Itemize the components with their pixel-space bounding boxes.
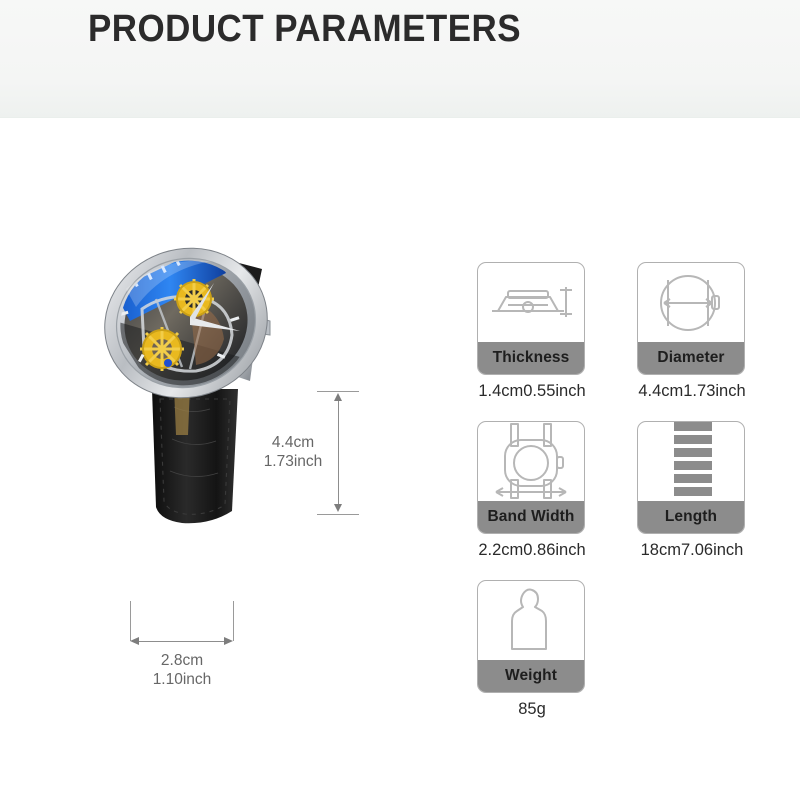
dimension-line xyxy=(338,395,339,510)
dimension-extension-left xyxy=(130,601,131,641)
weight-block-icon xyxy=(478,581,584,661)
spec-card-weight: Weight 85g xyxy=(477,580,587,719)
spec-value-band-width: 2.2cm0.86inch xyxy=(473,541,591,560)
arrow-right-icon xyxy=(224,637,233,645)
spec-label-band-width: Band Width xyxy=(478,501,584,533)
page-title: PRODUCT PARAMETERS xyxy=(88,8,521,51)
dimension-width-metric: 2.8cm xyxy=(106,651,258,670)
spec-card-thickness: Thickness 1.4cm0.55inch xyxy=(477,262,587,401)
main-content: 4.4cm 1.73inch 2.8cm 1.10inch xyxy=(0,119,800,800)
spec-card-grid: Thickness 1.4cm0.55inch xyxy=(477,262,747,782)
dimension-height-metric: 4.4cm xyxy=(249,433,337,452)
spec-card-diameter: Diameter 4.4cm1.73inch xyxy=(637,262,747,401)
watch-side-profile-icon xyxy=(478,263,584,343)
dimension-line xyxy=(134,641,230,642)
spec-card-frame: Weight xyxy=(477,580,585,693)
watch-band-lugs-icon xyxy=(478,422,584,502)
dimension-height-imperial: 1.73inch xyxy=(249,452,337,471)
spec-label-thickness: Thickness xyxy=(478,342,584,374)
spec-value-weight: 85g xyxy=(473,700,591,719)
dimension-width-imperial: 1.10inch xyxy=(106,670,258,689)
dimension-width-callout: 2.8cm 1.10inch xyxy=(118,601,298,711)
spec-value-length: 18cm7.06inch xyxy=(633,541,751,560)
dimension-width-label: 2.8cm 1.10inch xyxy=(106,651,258,689)
watch-photo-block: 4.4cm 1.73inch 2.8cm 1.10inch xyxy=(70,239,410,699)
spec-card-frame: Length xyxy=(637,421,745,534)
spec-value-thickness: 1.4cm0.55inch xyxy=(473,382,591,401)
spec-card-frame: Diameter xyxy=(637,262,745,375)
dimension-extension-right xyxy=(233,601,234,641)
spec-label-diameter: Diameter xyxy=(638,342,744,374)
spec-value-diameter: 4.4cm1.73inch xyxy=(633,382,751,401)
spec-card-frame: Thickness xyxy=(477,262,585,375)
arrow-down-icon xyxy=(334,504,342,512)
dimension-tick-top xyxy=(317,391,359,392)
strap-segments-icon xyxy=(638,422,744,502)
spec-card-band-width: Band Width 2.2cm0.86inch xyxy=(477,421,587,560)
spec-label-weight: Weight xyxy=(478,660,584,692)
arrow-up-icon xyxy=(334,393,342,401)
spec-label-length: Length xyxy=(638,501,744,533)
watch-case-circle-icon xyxy=(638,263,744,343)
spec-card-length: Length 18cm7.06inch xyxy=(637,421,747,560)
page-header: PRODUCT PARAMETERS xyxy=(0,0,800,118)
spec-card-frame: Band Width xyxy=(477,421,585,534)
arrow-left-icon xyxy=(130,637,139,645)
dimension-tick-bottom xyxy=(317,514,359,515)
dimension-height-callout: 4.4cm 1.73inch xyxy=(255,391,365,516)
dimension-height-label: 4.4cm 1.73inch xyxy=(249,433,337,471)
